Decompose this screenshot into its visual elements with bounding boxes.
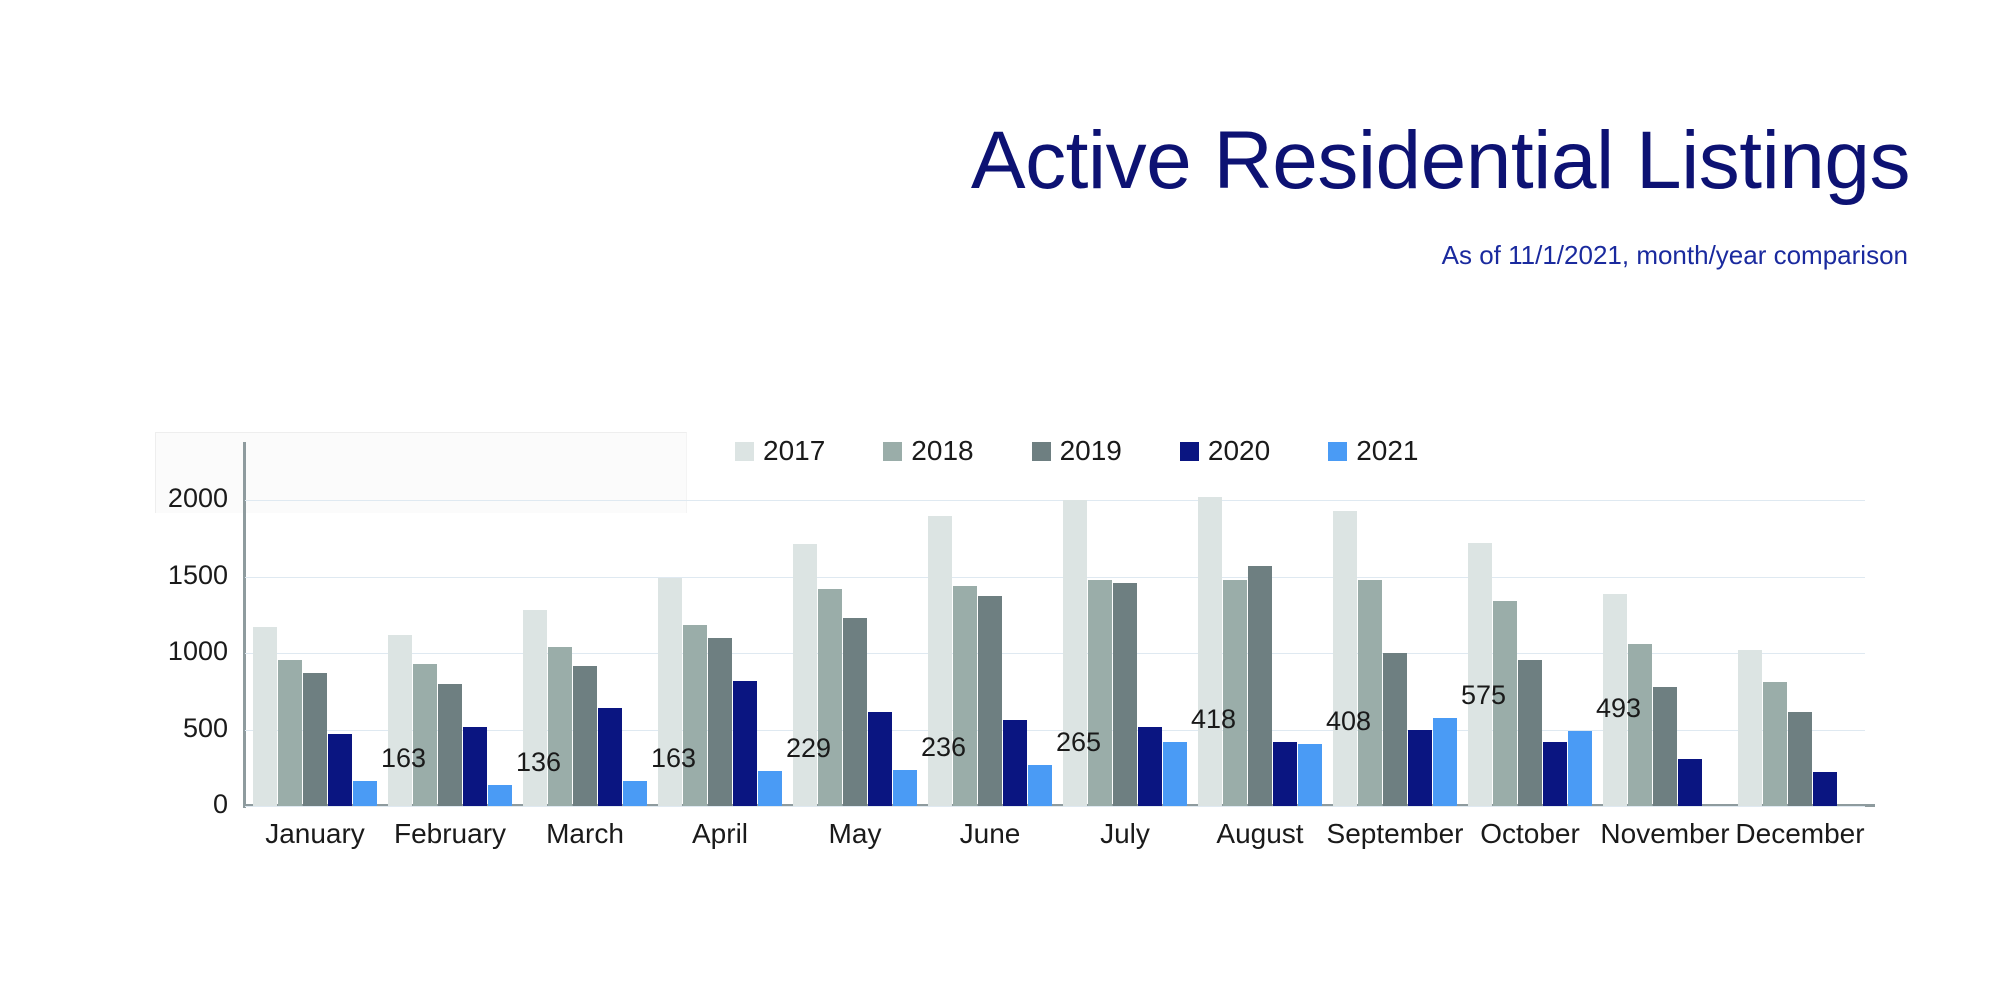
bar-data-label: 229 <box>786 733 831 764</box>
legend-swatch-icon <box>1180 442 1199 461</box>
bar-2021-april[interactable] <box>758 771 782 806</box>
bar-2021-may[interactable] <box>893 770 917 806</box>
bar-group <box>1333 500 1457 806</box>
y-axis-tick-label: 500 <box>68 713 228 744</box>
bar-2020-september[interactable] <box>1408 730 1432 806</box>
x-axis-label-june: June <box>960 818 1021 850</box>
bar-2019-november[interactable] <box>1653 687 1677 806</box>
bar-2018-november[interactable] <box>1628 644 1652 806</box>
bar-2019-may[interactable] <box>843 618 867 806</box>
bar-data-label: 163 <box>381 743 426 774</box>
legend-item-2019[interactable]: 2019 <box>1032 437 1122 465</box>
legend-item-2018[interactable]: 2018 <box>883 437 973 465</box>
bar-data-label: 493 <box>1596 693 1641 724</box>
bar-2017-may[interactable] <box>793 544 817 806</box>
bar-2017-july[interactable] <box>1063 500 1087 806</box>
legend-item-2017[interactable]: 2017 <box>735 437 825 465</box>
bar-data-label: 418 <box>1191 704 1236 735</box>
bar-data-label: 408 <box>1326 706 1371 737</box>
legend-swatch-icon <box>735 442 754 461</box>
bar-2019-september[interactable] <box>1383 653 1407 806</box>
chart-container: 0500100015002000 JanuaryFebruaryMarchApr… <box>0 0 2000 1000</box>
bar-2018-august[interactable] <box>1223 580 1247 806</box>
legend-swatch-icon <box>883 442 902 461</box>
bar-2021-october[interactable] <box>1568 731 1592 806</box>
bar-2020-may[interactable] <box>868 712 892 806</box>
bar-2018-april[interactable] <box>683 625 707 806</box>
x-axis-label-november: November <box>1600 818 1729 850</box>
y-axis-tick-label: 0 <box>68 789 228 820</box>
x-axis-label-july: July <box>1100 818 1150 850</box>
legend-item-2020[interactable]: 2020 <box>1180 437 1270 465</box>
bar-2021-july[interactable] <box>1163 742 1187 806</box>
bar-2018-july[interactable] <box>1088 580 1112 806</box>
x-axis-label-march: March <box>546 818 624 850</box>
x-axis-label-april: April <box>692 818 748 850</box>
legend-label: 2019 <box>1060 437 1122 465</box>
bar-2021-june[interactable] <box>1028 765 1052 806</box>
legend-item-2021[interactable]: 2021 <box>1328 437 1418 465</box>
x-axis-label-may: May <box>829 818 882 850</box>
bar-2018-january[interactable] <box>278 660 302 806</box>
bar-2018-march[interactable] <box>548 647 572 806</box>
legend-swatch-icon <box>1328 442 1347 461</box>
x-axis-label-october: October <box>1480 818 1580 850</box>
bar-2020-july[interactable] <box>1138 727 1162 806</box>
legend-label: 2018 <box>911 437 973 465</box>
bar-2020-april[interactable] <box>733 681 757 806</box>
bar-2019-february[interactable] <box>438 684 462 806</box>
bar-group <box>1198 500 1322 806</box>
bar-group <box>1063 500 1187 806</box>
bar-2019-december[interactable] <box>1788 712 1812 806</box>
bar-2017-february[interactable] <box>388 635 412 806</box>
x-axis-label-january: January <box>265 818 365 850</box>
x-axis-label-december: December <box>1735 818 1864 850</box>
bar-2018-may[interactable] <box>818 589 842 806</box>
legend-swatch-icon <box>1032 442 1051 461</box>
bar-data-label: 136 <box>516 747 561 778</box>
x-axis-label-february: February <box>394 818 506 850</box>
bar-2021-september[interactable] <box>1433 718 1457 806</box>
bar-data-label: 236 <box>921 732 966 763</box>
bar-2018-december[interactable] <box>1763 682 1787 806</box>
bar-2017-october[interactable] <box>1468 543 1492 806</box>
legend-label: 2020 <box>1208 437 1270 465</box>
bar-2020-february[interactable] <box>463 727 487 806</box>
bar-2021-january[interactable] <box>353 781 377 806</box>
bar-group <box>1603 500 1727 806</box>
bar-2018-june[interactable] <box>953 586 977 806</box>
bar-2020-march[interactable] <box>598 708 622 806</box>
bar-2019-january[interactable] <box>303 673 327 806</box>
gridline <box>245 806 1865 807</box>
bar-2019-april[interactable] <box>708 638 732 806</box>
chart-legend: 20172018201920202021 <box>735 437 1418 465</box>
bar-2020-january[interactable] <box>328 734 352 806</box>
legend-label: 2021 <box>1356 437 1418 465</box>
bar-data-label: 163 <box>651 743 696 774</box>
bar-2019-october[interactable] <box>1518 660 1542 806</box>
bar-2017-december[interactable] <box>1738 650 1762 806</box>
bar-2021-august[interactable] <box>1298 744 1322 806</box>
y-axis-tick-label: 1000 <box>68 636 228 667</box>
legend-label: 2017 <box>763 437 825 465</box>
bar-2019-june[interactable] <box>978 596 1002 806</box>
bar-2020-october[interactable] <box>1543 742 1567 806</box>
bar-2020-august[interactable] <box>1273 742 1297 806</box>
x-axis-label-august: August <box>1216 818 1303 850</box>
bar-data-label: 265 <box>1056 727 1101 758</box>
bar-2017-january[interactable] <box>253 627 277 806</box>
plot-area <box>245 500 1865 806</box>
bar-2021-february[interactable] <box>488 785 512 806</box>
bar-2018-september[interactable] <box>1358 580 1382 806</box>
bar-2020-june[interactable] <box>1003 720 1027 806</box>
bar-2019-july[interactable] <box>1113 583 1137 806</box>
bar-2018-february[interactable] <box>413 664 437 806</box>
bar-2017-august[interactable] <box>1198 497 1222 806</box>
bar-data-label: 575 <box>1461 680 1506 711</box>
bar-2020-december[interactable] <box>1813 772 1837 806</box>
x-axis-label-september: September <box>1327 818 1464 850</box>
bar-group <box>1468 500 1592 806</box>
bar-2021-march[interactable] <box>623 781 647 806</box>
bar-group <box>253 500 377 806</box>
bar-group <box>1738 500 1862 806</box>
bar-2017-september[interactable] <box>1333 511 1357 806</box>
bar-2019-august[interactable] <box>1248 566 1272 806</box>
y-axis-tick-label: 1500 <box>68 560 228 591</box>
bar-2020-november[interactable] <box>1678 759 1702 806</box>
bar-2019-march[interactable] <box>573 666 597 806</box>
y-axis-tick-label: 2000 <box>68 483 228 514</box>
